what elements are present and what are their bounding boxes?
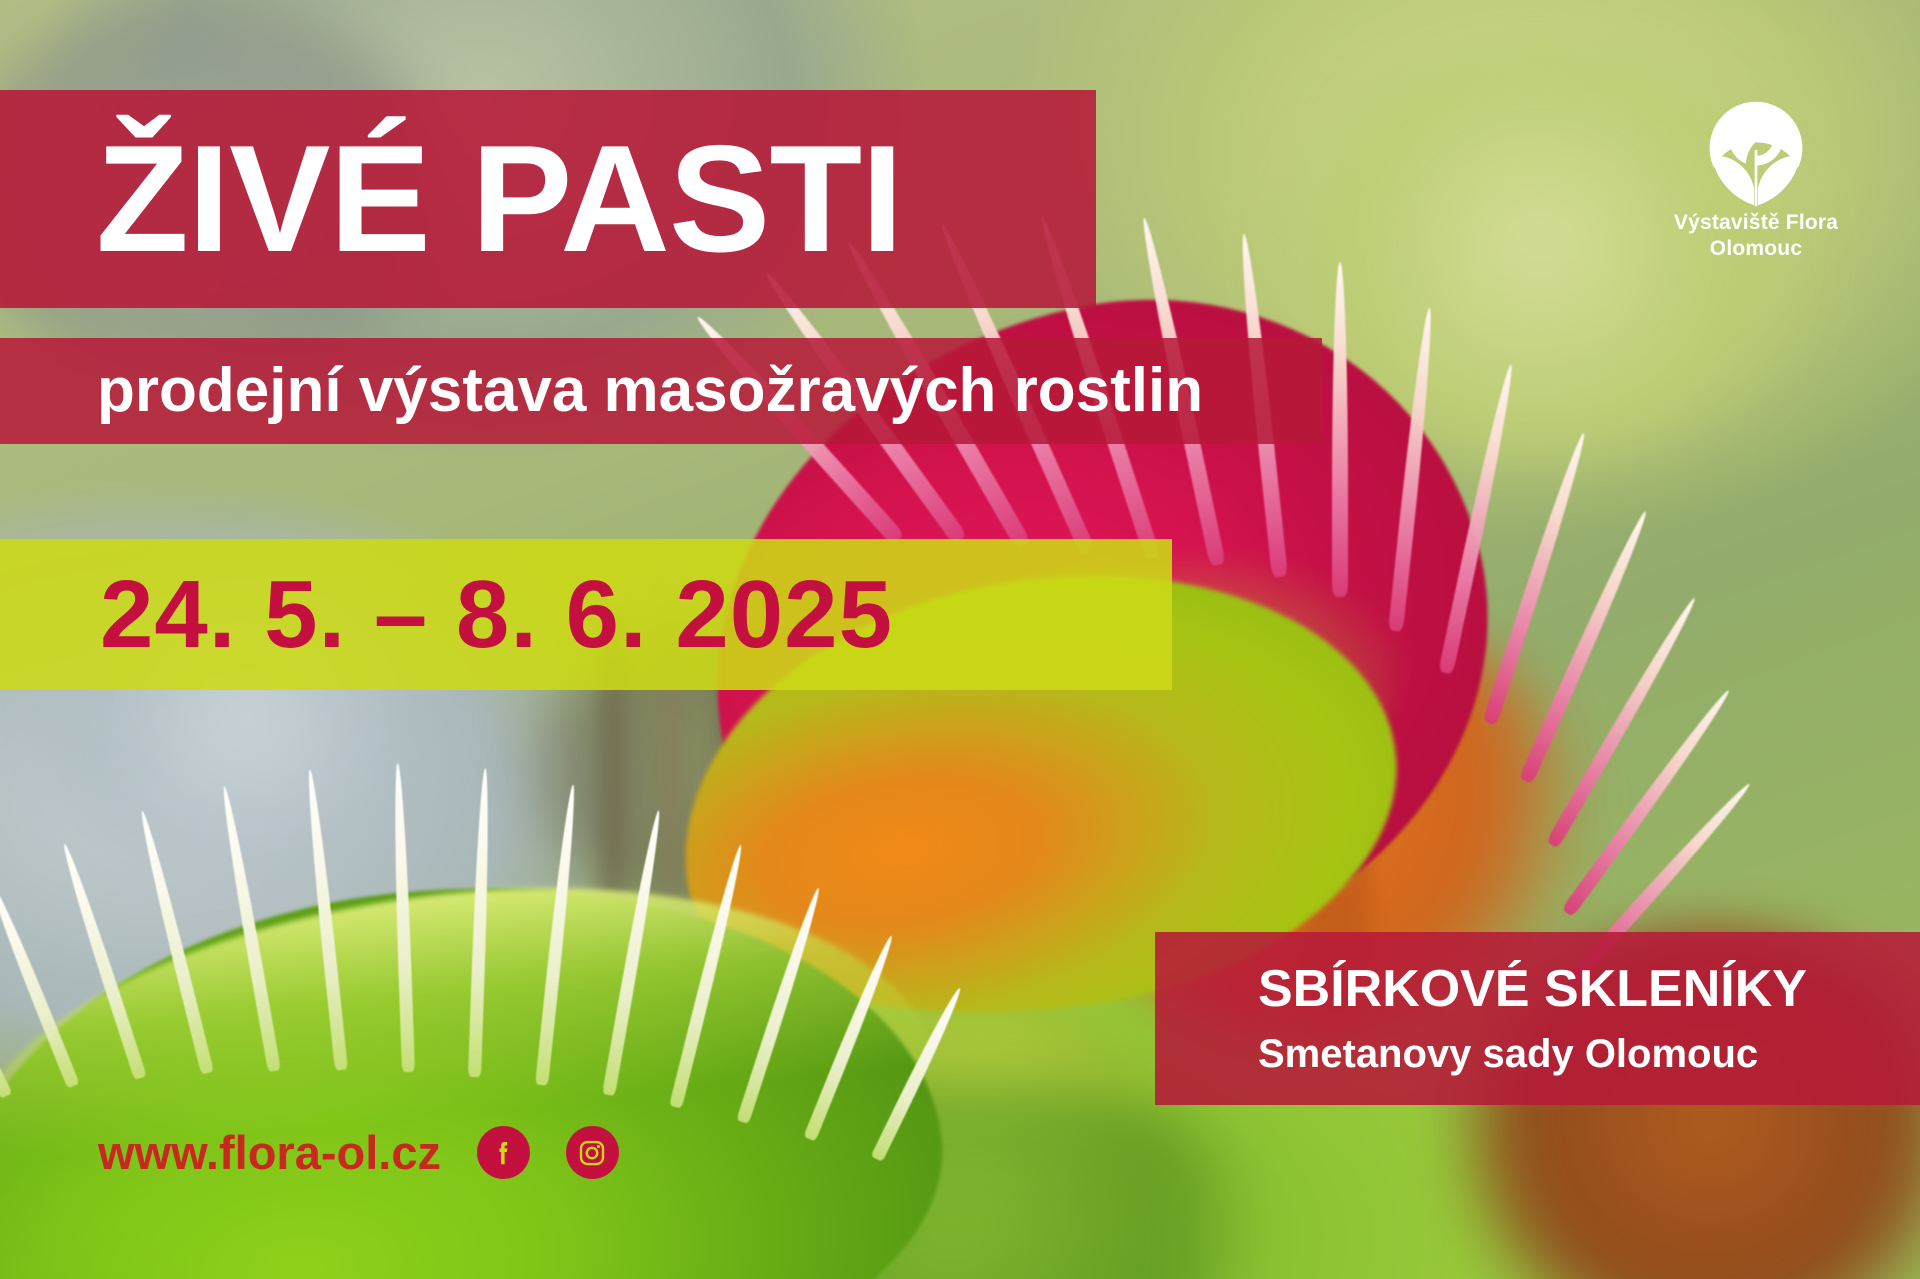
title-banner: ŽIVÉ PASTI bbox=[0, 90, 1096, 308]
flora-tulip-logo-icon bbox=[1698, 94, 1814, 210]
venue-name: SBÍRKOVÉ SKLENÍKY bbox=[1258, 962, 1807, 1017]
flytrap-green bbox=[0, 700, 1040, 1279]
logo-line-1: Výstaviště Flora bbox=[1636, 210, 1876, 236]
flytrap-spike bbox=[1332, 262, 1348, 597]
brand-logo[interactable]: Výstaviště Flora Olomouc bbox=[1636, 94, 1876, 263]
page-subtitle: prodejní výstava masožravých rostlin bbox=[97, 360, 1203, 422]
venue-location: Smetanovy sady Olomouc bbox=[1258, 1033, 1758, 1075]
page-title: ŽIVÉ PASTI bbox=[96, 123, 902, 275]
website-url[interactable]: www.flora-ol.cz bbox=[98, 1129, 441, 1176]
venue-banner: SBÍRKOVÉ SKLENÍKY Smetanovy sady Olomouc bbox=[1155, 932, 1920, 1105]
poster: ŽIVÉ PASTI prodejní výstava masožravých … bbox=[0, 0, 1920, 1279]
footer: www.flora-ol.cz bbox=[98, 1126, 619, 1179]
date-banner: 24. 5. – 8. 6. 2025 bbox=[0, 539, 1172, 690]
subtitle-banner: prodejní výstava masožravých rostlin bbox=[0, 338, 1322, 444]
event-date-range: 24. 5. – 8. 6. 2025 bbox=[100, 567, 893, 663]
facebook-icon[interactable] bbox=[477, 1126, 530, 1179]
instagram-icon[interactable] bbox=[566, 1126, 619, 1179]
logo-line-2: Olomouc bbox=[1636, 236, 1876, 262]
